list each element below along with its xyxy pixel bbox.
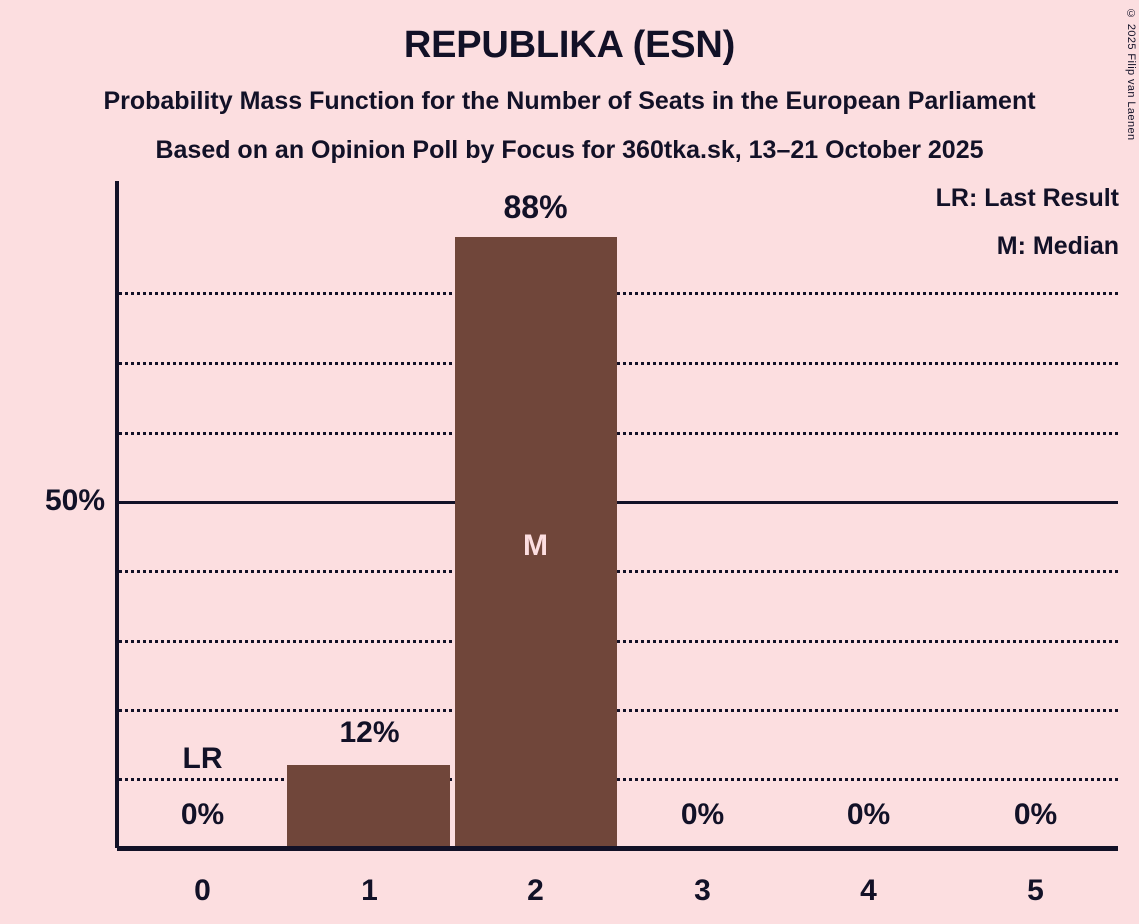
gridline-20 — [119, 709, 1118, 712]
median-marker: M — [452, 531, 619, 561]
bar-value-label-1: 12% — [286, 718, 453, 748]
chart-title: REPUBLIKA (ESN) — [0, 26, 1139, 64]
last-result-marker: LR — [119, 744, 286, 774]
gridline-60 — [119, 432, 1118, 435]
bar-value-label-0: 0% — [119, 800, 286, 830]
x-tick-label-1: 1 — [286, 876, 453, 906]
x-tick-label-2: 2 — [452, 876, 619, 906]
gridline-80 — [119, 292, 1118, 295]
x-tick-label-3: 3 — [619, 876, 786, 906]
x-tick-label-5: 5 — [952, 876, 1119, 906]
gridline-70 — [119, 362, 1118, 365]
gridline-10 — [119, 778, 1118, 781]
bar-value-label-2: 88% — [452, 191, 619, 223]
gridline-50 — [119, 501, 1118, 504]
chart-source-line: Based on an Opinion Poll by Focus for 36… — [0, 138, 1139, 163]
x-tick-label-4: 4 — [785, 876, 952, 906]
y-tick-label-50: 50% — [0, 486, 105, 516]
bar-value-label-4: 0% — [785, 800, 952, 830]
copyright-notice: © 2025 Filip van Laenen — [1125, 8, 1137, 141]
bar-value-label-3: 0% — [619, 800, 786, 830]
gridline-40 — [119, 570, 1118, 573]
bar-value-label-5: 0% — [952, 800, 1119, 830]
x-tick-label-0: 0 — [119, 876, 286, 906]
chart-canvas: REPUBLIKA (ESN) Probability Mass Functio… — [0, 0, 1139, 924]
chart-subtitle: Probability Mass Function for the Number… — [0, 89, 1139, 114]
x-axis-line — [117, 846, 1118, 851]
bar-seats-1[interactable] — [287, 765, 450, 848]
gridline-30 — [119, 640, 1118, 643]
